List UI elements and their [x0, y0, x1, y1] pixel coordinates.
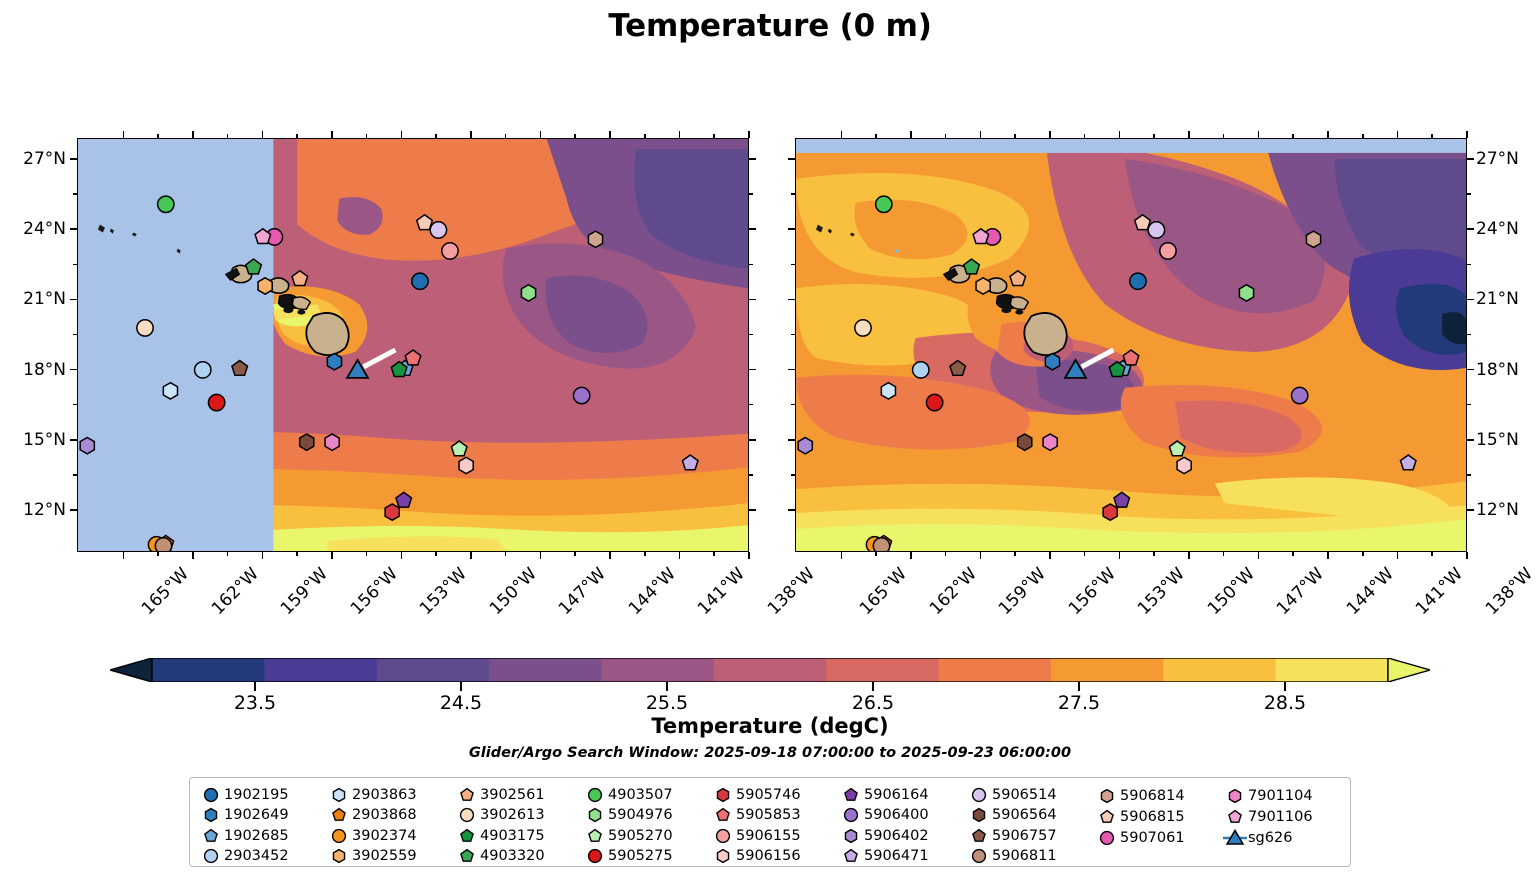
y-axis-label-left: 24°N: [0, 219, 66, 239]
y-tick-minor-right: [749, 264, 753, 266]
legend-entry-4903175[interactable]: 4903175: [454, 826, 582, 846]
legend-entry-1902685[interactable]: 1902685: [198, 826, 326, 846]
legend-entry-7901104[interactable]: 7901104: [1222, 785, 1350, 806]
circle-marker-icon: [582, 786, 608, 804]
colorbar-tick-label: 27.5: [1058, 692, 1100, 714]
colorbar-band: [377, 658, 490, 682]
x-tick: [748, 552, 750, 559]
x-axis-label: 147°W: [1273, 564, 1328, 619]
y-tick-minor-right: [1467, 334, 1471, 336]
colorbar-tick: [666, 682, 668, 691]
colorbar-band: [489, 658, 602, 682]
colorbar-band: [152, 658, 265, 682]
legend-entry-3902374[interactable]: 3902374: [326, 826, 454, 846]
triangle-line-marker-icon: [1222, 829, 1248, 847]
x-tick-top: [841, 131, 843, 138]
colorbar-band: [601, 658, 714, 682]
legend-entry-label: 5906757: [992, 828, 1057, 844]
y-tick-minor: [73, 264, 77, 266]
x-tick-minor-top: [713, 134, 715, 138]
x-tick: [331, 552, 333, 559]
x-tick-minor-top: [505, 134, 507, 138]
pentagon-marker-icon: [1094, 808, 1120, 826]
x-axis-label: 150°W: [1204, 564, 1259, 619]
legend-entry-label: 2903452: [224, 848, 289, 864]
circle-marker-icon: [454, 806, 480, 824]
x-axis-label: 156°W: [1065, 564, 1120, 619]
x-tick-top: [1327, 131, 1329, 138]
pentagon-marker-icon: [582, 827, 608, 845]
x-axis-label: 147°W: [555, 564, 610, 619]
x-tick-minor: [296, 552, 298, 556]
x-tick: [1466, 552, 1468, 559]
x-axis-label: 156°W: [347, 564, 402, 619]
colorbar-tick: [1078, 682, 1080, 691]
x-tick: [1258, 552, 1260, 559]
y-axis-label-left: 15°N: [0, 430, 66, 450]
x-tick-minor: [875, 552, 877, 556]
colorbar-extend-max: [1388, 658, 1430, 682]
y-axis-label-left: 21°N: [0, 289, 66, 309]
legend-entry-5906156[interactable]: 5906156: [710, 846, 838, 866]
pentagon-marker-icon: [198, 827, 224, 845]
x-tick-minor-top: [1362, 134, 1364, 138]
platform-legend[interactable]: 1902195190264919026852903452290386329038…: [189, 777, 1351, 867]
hexagon-marker-icon: [582, 806, 608, 824]
legend-entry-label: 1902649: [224, 807, 289, 823]
figure-title: Temperature (0 m): [0, 8, 1540, 44]
pentagon-marker-icon: [966, 827, 992, 845]
colorbar-tick-label: 24.5: [440, 692, 482, 714]
y-tick-right: [749, 369, 756, 371]
colorbar-tick-label: 23.5: [234, 692, 276, 714]
hexagon-marker-icon: [326, 786, 352, 804]
circle-marker-icon: [582, 847, 608, 865]
legend-entry-label: 2903863: [352, 787, 417, 803]
legend-entry-label: 5906814: [1120, 788, 1185, 804]
legend-entry-4903507[interactable]: 4903507: [582, 785, 710, 805]
legend-entry-2903868[interactable]: 2903868: [326, 805, 454, 825]
y-tick-minor-right: [1467, 264, 1471, 266]
x-tick: [540, 552, 542, 559]
x-axis-label: 144°W: [1343, 564, 1398, 619]
x-tick-minor: [505, 552, 507, 556]
legend-entry-label: 5905746: [736, 787, 801, 803]
y-tick: [70, 158, 77, 160]
x-tick-top: [1258, 131, 1260, 138]
circle-marker-icon: [966, 786, 992, 804]
legend-entry-3902561[interactable]: 3902561: [454, 785, 582, 805]
legend-entry-5905853[interactable]: 5905853: [710, 805, 838, 825]
x-tick-top: [1466, 131, 1468, 138]
hexagon-marker-icon: [1222, 787, 1248, 805]
y-tick-minor-right: [1467, 404, 1471, 406]
colorbar-band: [1276, 658, 1389, 682]
hexagon-marker-icon: [838, 827, 864, 845]
legend-column: 1902195190264919026852903452: [198, 785, 326, 866]
x-tick-minor-top: [1084, 134, 1086, 138]
y-axis-label-right: 15°N: [1476, 430, 1519, 450]
legend-entry-1902195[interactable]: 1902195: [198, 785, 326, 805]
y-tick-right: [1467, 439, 1474, 441]
x-tick-top: [910, 131, 912, 138]
x-tick-minor: [1362, 552, 1364, 556]
circle-marker-icon: [198, 847, 224, 865]
pentagon-marker-icon: [454, 827, 480, 845]
y-tick-right: [749, 299, 756, 301]
legend-entry-5906564[interactable]: 5906564: [966, 805, 1094, 825]
legend-entry-label: 5905270: [608, 828, 673, 844]
x-tick-minor-top: [1223, 134, 1225, 138]
legend-entry-label: 2903868: [352, 807, 417, 823]
x-axis-label: 150°W: [486, 564, 541, 619]
legend-entry-sg626[interactable]: sg626: [1222, 827, 1350, 848]
x-tick-minor: [366, 552, 368, 556]
x-tick-minor-top: [366, 134, 368, 138]
y-tick: [788, 158, 795, 160]
legend-entry-label: 3902561: [480, 787, 545, 803]
y-tick: [70, 228, 77, 230]
x-axis-label: 138°W: [764, 564, 819, 619]
colorbar-band: [826, 658, 939, 682]
x-tick-top: [980, 131, 982, 138]
x-tick-minor-top: [435, 134, 437, 138]
y-axis-label-left: 27°N: [0, 149, 66, 169]
y-tick-minor: [791, 474, 795, 476]
y-tick-minor: [791, 334, 795, 336]
x-tick-top: [540, 131, 542, 138]
legend-entry-label: 7901104: [1248, 788, 1313, 804]
x-tick: [401, 552, 403, 559]
x-axis-label: 141°W: [1412, 564, 1467, 619]
x-tick-minor-top: [296, 134, 298, 138]
x-axis-label: 162°W: [926, 564, 981, 619]
legend-entry-5905270[interactable]: 5905270: [582, 826, 710, 846]
y-tick: [70, 369, 77, 371]
legend-entry-label: 7901106: [1248, 809, 1313, 825]
x-tick: [679, 552, 681, 559]
legend-entry-label: 5905275: [608, 848, 673, 864]
legend-entry-5906815[interactable]: 5906815: [1094, 806, 1222, 827]
y-tick-right: [1467, 299, 1474, 301]
legend-entry-label: 4903507: [608, 787, 673, 803]
legend-entry-1902649[interactable]: 1902649: [198, 805, 326, 825]
legend-entry-label: 4903175: [480, 828, 545, 844]
pentagon-marker-icon: [838, 847, 864, 865]
colorbar-extend-min: [110, 658, 152, 682]
x-tick: [470, 552, 472, 559]
legend-entry-5906757[interactable]: 5906757: [966, 826, 1094, 846]
x-tick-minor: [713, 552, 715, 556]
cmems-platform-markers: [796, 139, 1466, 552]
y-tick-right: [1467, 228, 1474, 230]
pentagon-marker-icon: [454, 786, 480, 804]
x-tick-minor: [1084, 552, 1086, 556]
x-axis-label: 153°W: [1134, 564, 1189, 619]
legend-entry-label: 1902195: [224, 787, 289, 803]
x-tick-minor-top: [1014, 134, 1016, 138]
hexagon-marker-icon: [966, 806, 992, 824]
x-tick-top: [1049, 131, 1051, 138]
legend-column: 5905746590585359061555906156: [710, 785, 838, 866]
y-tick-right: [1467, 158, 1474, 160]
legend-entry-label: 5906815: [1120, 809, 1185, 825]
y-axis-label-right: 24°N: [1476, 219, 1519, 239]
y-tick-right: [749, 439, 756, 441]
legend-column: 590681459068155907061: [1094, 785, 1222, 866]
x-tick: [1119, 552, 1121, 559]
legend-entry-5906471[interactable]: 5906471: [838, 846, 966, 866]
legend-column: 5906514590656459067575906811: [966, 785, 1094, 866]
hexagon-marker-icon: [198, 806, 224, 824]
x-tick: [980, 552, 982, 559]
x-tick: [1397, 552, 1399, 559]
pentagon-marker-icon: [454, 847, 480, 865]
x-tick: [192, 552, 194, 559]
legend-entry-5905746[interactable]: 5905746: [710, 785, 838, 805]
y-tick-right: [1467, 509, 1474, 511]
x-tick-minor-top: [875, 134, 877, 138]
x-tick: [609, 552, 611, 559]
legend-entry-label: 4903320: [480, 848, 545, 864]
x-tick: [841, 552, 843, 559]
x-tick-minor: [1431, 552, 1433, 556]
y-axis-label-right: 27°N: [1476, 149, 1519, 169]
x-tick-top: [192, 131, 194, 138]
pentagon-marker-icon: [1222, 808, 1248, 826]
legend-entry-2903863[interactable]: 2903863: [326, 785, 454, 805]
x-tick-top: [1397, 131, 1399, 138]
colorbar-tick: [1284, 682, 1286, 691]
x-axis-label: 141°W: [694, 564, 749, 619]
x-tick-minor: [1014, 552, 1016, 556]
x-tick-minor-top: [1431, 134, 1433, 138]
x-tick-top: [331, 131, 333, 138]
hexagon-marker-icon: [326, 847, 352, 865]
y-tick-minor-right: [749, 474, 753, 476]
x-tick-minor: [1223, 552, 1225, 556]
y-tick-minor: [791, 264, 795, 266]
legend-entry-label: 5906564: [992, 807, 1057, 823]
x-tick: [262, 552, 264, 559]
y-tick: [70, 509, 77, 511]
x-tick-top: [1188, 131, 1190, 138]
y-tick-minor: [73, 404, 77, 406]
hexagon-marker-icon: [1094, 787, 1120, 805]
legend-entry-5907061[interactable]: 5907061: [1094, 827, 1222, 848]
x-tick-minor: [574, 552, 576, 556]
x-tick-minor: [644, 552, 646, 556]
y-tick: [788, 439, 795, 441]
y-tick-minor: [73, 334, 77, 336]
legend-entry-5906164[interactable]: 5906164: [838, 785, 966, 805]
legend-entry-label: 3902613: [480, 807, 545, 823]
x-tick-minor-top: [1292, 134, 1294, 138]
x-tick-minor: [157, 552, 159, 556]
x-axis-label: 165°W: [138, 564, 193, 619]
y-tick-minor: [791, 193, 795, 195]
legend-entry-5906400[interactable]: 5906400: [838, 805, 966, 825]
legend-entry-label: 5906155: [736, 828, 801, 844]
x-tick-top: [470, 131, 472, 138]
legend-column: 79011047901106sg626: [1222, 785, 1350, 866]
x-tick-minor: [1153, 552, 1155, 556]
x-tick-top: [262, 131, 264, 138]
colorbar-band: [939, 658, 1052, 682]
x-tick-minor-top: [227, 134, 229, 138]
y-tick-minor-right: [749, 193, 753, 195]
circle-marker-icon: [326, 827, 352, 845]
legend-entry-label: 5906402: [864, 828, 929, 844]
x-tick-top: [609, 131, 611, 138]
colorbar[interactable]: 23.524.525.526.527.528.5: [110, 658, 1430, 682]
colorbar-tick-label: 26.5: [852, 692, 894, 714]
y-tick: [788, 509, 795, 511]
hexagon-marker-icon: [710, 847, 736, 865]
y-tick-right: [749, 509, 756, 511]
y-tick-minor: [73, 193, 77, 195]
search-window-caption: Glider/Argo Search Window: 2025-09-18 07…: [0, 745, 1540, 761]
legend-entry-label: 5907061: [1120, 830, 1185, 846]
y-tick-minor: [73, 474, 77, 476]
colorbar-band: [714, 658, 827, 682]
legend-entry-5906155[interactable]: 5906155: [710, 826, 838, 846]
y-tick-minor-right: [1467, 193, 1471, 195]
x-tick-minor-top: [157, 134, 159, 138]
legend-entry-3902559[interactable]: 3902559: [326, 846, 454, 866]
rtofs-platform-markers: [78, 139, 748, 552]
x-tick-minor: [1292, 552, 1294, 556]
x-tick-top: [1119, 131, 1121, 138]
colorbar-tick-label: 25.5: [646, 692, 688, 714]
colorbar-tick: [872, 682, 874, 691]
y-tick: [70, 439, 77, 441]
legend-entry-4903320[interactable]: 4903320: [454, 846, 582, 866]
x-axis-label: 153°W: [416, 564, 471, 619]
colorbar-band: [1163, 658, 1276, 682]
legend-entry-label: 5906811: [992, 848, 1057, 864]
circle-marker-icon: [838, 806, 864, 824]
legend-entry-5905275[interactable]: 5905275: [582, 846, 710, 866]
legend-entry-label: 3902559: [352, 848, 417, 864]
legend-column: 2903863290386839023743902559: [326, 785, 454, 866]
legend-entry-label: 3902374: [352, 828, 417, 844]
pentagon-marker-icon: [326, 806, 352, 824]
legend-entry-2903452[interactable]: 2903452: [198, 846, 326, 866]
x-axis-label: 159°W: [277, 564, 332, 619]
x-tick-top: [401, 131, 403, 138]
colorbar-band: [1051, 658, 1164, 682]
x-tick-top: [123, 131, 125, 138]
legend-entry-5906811[interactable]: 5906811: [966, 846, 1094, 866]
y-axis-label-left: 18°N: [0, 360, 66, 380]
colorbar-tick: [460, 682, 462, 691]
x-axis-label: 159°W: [995, 564, 1050, 619]
colorbar-tick: [254, 682, 256, 691]
x-tick: [123, 552, 125, 559]
map-panel-rtofs[interactable]: RTOFS - 2025-09-23 06:00:00: [77, 138, 749, 552]
x-axis-label: 144°W: [625, 564, 680, 619]
y-tick-right: [749, 158, 756, 160]
y-tick: [788, 228, 795, 230]
legend-entry-7901106[interactable]: 7901106: [1222, 806, 1350, 827]
map-panel-cmems[interactable]: CMEMS - 2025-09-23 06:00:00: [795, 138, 1467, 552]
figure-canvas: Temperature (0 m) RTOFS - 2025-09-23 06:…: [0, 0, 1540, 889]
y-tick-minor-right: [749, 404, 753, 406]
x-tick-minor: [227, 552, 229, 556]
legend-entry-label: 1902685: [224, 828, 289, 844]
y-axis-label-left: 12°N: [0, 500, 66, 520]
x-tick: [1188, 552, 1190, 559]
x-tick-top: [679, 131, 681, 138]
y-tick-minor: [791, 404, 795, 406]
legend-column: 4903507590497659052705905275: [582, 785, 710, 866]
pentagon-marker-icon: [710, 806, 736, 824]
hexagon-marker-icon: [710, 786, 736, 804]
legend-entry-5906814[interactable]: 5906814: [1094, 785, 1222, 806]
circle-marker-icon: [198, 786, 224, 804]
legend-entry-label: sg626: [1248, 830, 1292, 846]
circle-marker-icon: [966, 847, 992, 865]
y-tick-minor-right: [749, 334, 753, 336]
legend-entry-3902613[interactable]: 3902613: [454, 805, 582, 825]
x-tick-minor-top: [945, 134, 947, 138]
legend-column: 3902561390261349031754903320: [454, 785, 582, 866]
y-tick-right: [1467, 369, 1474, 371]
x-axis-label: 162°W: [208, 564, 263, 619]
y-tick-right: [749, 228, 756, 230]
x-tick-minor: [435, 552, 437, 556]
x-axis-label: 138°W: [1482, 564, 1537, 619]
x-tick-minor-top: [1153, 134, 1155, 138]
pentagon-marker-icon: [838, 786, 864, 804]
x-tick: [1327, 552, 1329, 559]
x-tick-minor-top: [644, 134, 646, 138]
x-axis-label: 165°W: [856, 564, 911, 619]
x-tick: [1049, 552, 1051, 559]
legend-entry-5904976[interactable]: 5904976: [582, 805, 710, 825]
legend-entry-label: 5905853: [736, 807, 801, 823]
legend-column: 5906164590640059064025906471: [838, 785, 966, 866]
legend-entry-label: 5904976: [608, 807, 673, 823]
legend-entry-label: 5906471: [864, 848, 929, 864]
x-tick: [910, 552, 912, 559]
y-tick: [788, 369, 795, 371]
legend-entry-label: 5906164: [864, 787, 929, 803]
y-axis-label-right: 21°N: [1476, 289, 1519, 309]
colorbar-tick-label: 28.5: [1264, 692, 1306, 714]
y-axis-label-right: 12°N: [1476, 500, 1519, 520]
y-tick: [70, 299, 77, 301]
legend-entry-label: 5906156: [736, 848, 801, 864]
legend-entry-5906402[interactable]: 5906402: [838, 826, 966, 846]
x-tick-minor-top: [574, 134, 576, 138]
x-tick-top: [748, 131, 750, 138]
colorbar-label: Temperature (degC): [0, 714, 1540, 738]
legend-entry-label: 5906400: [864, 807, 929, 823]
legend-entry-label: 5906514: [992, 787, 1057, 803]
x-tick-minor: [945, 552, 947, 556]
circle-marker-icon: [1094, 829, 1120, 847]
y-tick: [788, 299, 795, 301]
y-tick-minor-right: [1467, 474, 1471, 476]
legend-entry-5906514[interactable]: 5906514: [966, 785, 1094, 805]
y-axis-label-right: 18°N: [1476, 360, 1519, 380]
circle-marker-icon: [710, 827, 736, 845]
colorbar-band: [264, 658, 377, 682]
